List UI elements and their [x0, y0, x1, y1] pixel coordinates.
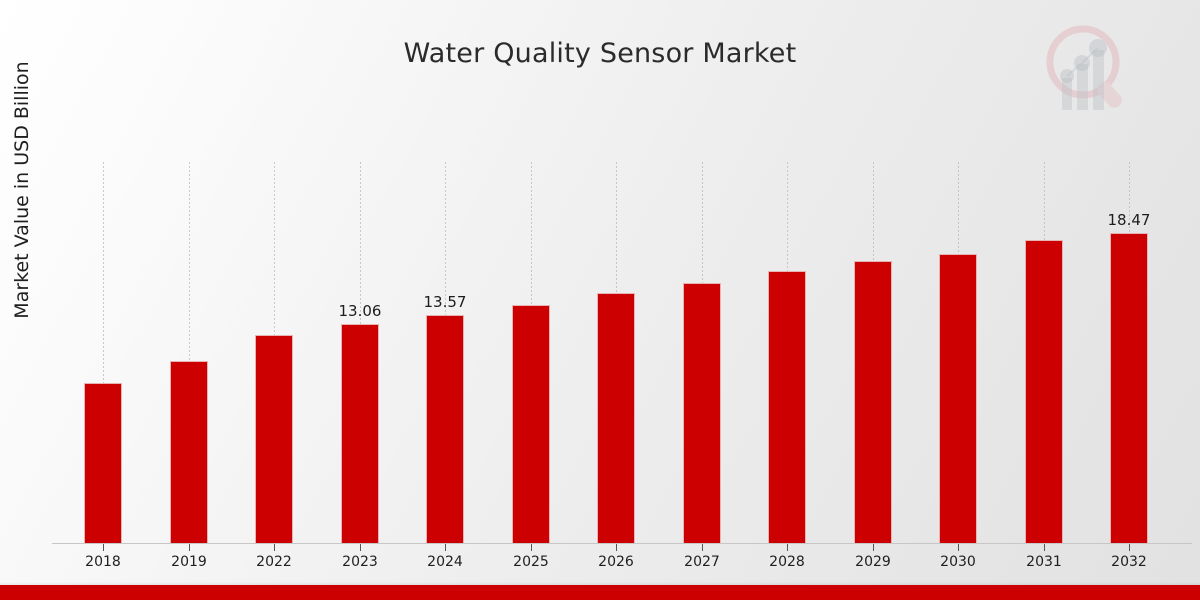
bar-2031[interactable] [1025, 240, 1063, 543]
bar-2026[interactable] [597, 293, 635, 543]
bar-value-label-2023: 13.06 [325, 302, 395, 320]
x-tick-mark [445, 544, 446, 551]
x-tick-mark [189, 544, 190, 551]
x-tick-label-2019: 2019 [154, 554, 224, 570]
bar-2023[interactable] [341, 324, 379, 543]
x-tick-label-2031: 2031 [1009, 554, 1079, 570]
bar-2029[interactable] [854, 261, 892, 543]
bar-2024[interactable] [426, 315, 464, 543]
y-axis-title: Market Value in USD Billion [7, 0, 37, 385]
x-axis-line [52, 543, 1192, 544]
x-tick-label-2025: 2025 [496, 554, 566, 570]
bar-2028[interactable] [768, 271, 806, 543]
x-tick-label-2022: 2022 [239, 554, 309, 570]
x-tick-mark [787, 544, 788, 551]
bar-2018[interactable] [84, 383, 122, 543]
x-tick-mark [873, 544, 874, 551]
bar-value-label-2032: 18.47 [1094, 211, 1164, 229]
x-tick-label-2027: 2027 [667, 554, 737, 570]
x-tick-label-2032: 2032 [1094, 554, 1164, 570]
plot-area: 13.0613.5718.47 201820192022202320242025… [52, 162, 1192, 544]
x-tick-mark [360, 544, 361, 551]
footer-band [0, 585, 1200, 600]
x-tick-mark [531, 544, 532, 551]
x-tick-mark [1044, 544, 1045, 551]
x-tick-mark [616, 544, 617, 551]
x-tick-mark [958, 544, 959, 551]
x-tick-label-2026: 2026 [581, 554, 651, 570]
x-tick-label-2028: 2028 [752, 554, 822, 570]
bar-2027[interactable] [683, 283, 721, 543]
x-tick-label-2018: 2018 [68, 554, 138, 570]
x-tick-mark [1129, 544, 1130, 551]
bar-2030[interactable] [939, 254, 977, 543]
x-tick-mark [103, 544, 104, 551]
bar-2019[interactable] [170, 361, 208, 543]
x-tick-label-2030: 2030 [923, 554, 993, 570]
x-tick-label-2029: 2029 [838, 554, 908, 570]
bar-2022[interactable] [255, 335, 293, 543]
page-title: Water Quality Sensor Market [0, 38, 1200, 69]
bar-2025[interactable] [512, 305, 550, 543]
bar-value-label-2024: 13.57 [410, 293, 480, 311]
chart-page: Water Quality Sensor Market Market [0, 0, 1200, 600]
bar-2032[interactable] [1110, 233, 1148, 543]
magnifier-bar-chart-logo-icon [1034, 18, 1138, 116]
x-tick-label-2024: 2024 [410, 554, 480, 570]
x-tick-mark [702, 544, 703, 551]
x-tick-mark [274, 544, 275, 551]
x-tick-label-2023: 2023 [325, 554, 395, 570]
